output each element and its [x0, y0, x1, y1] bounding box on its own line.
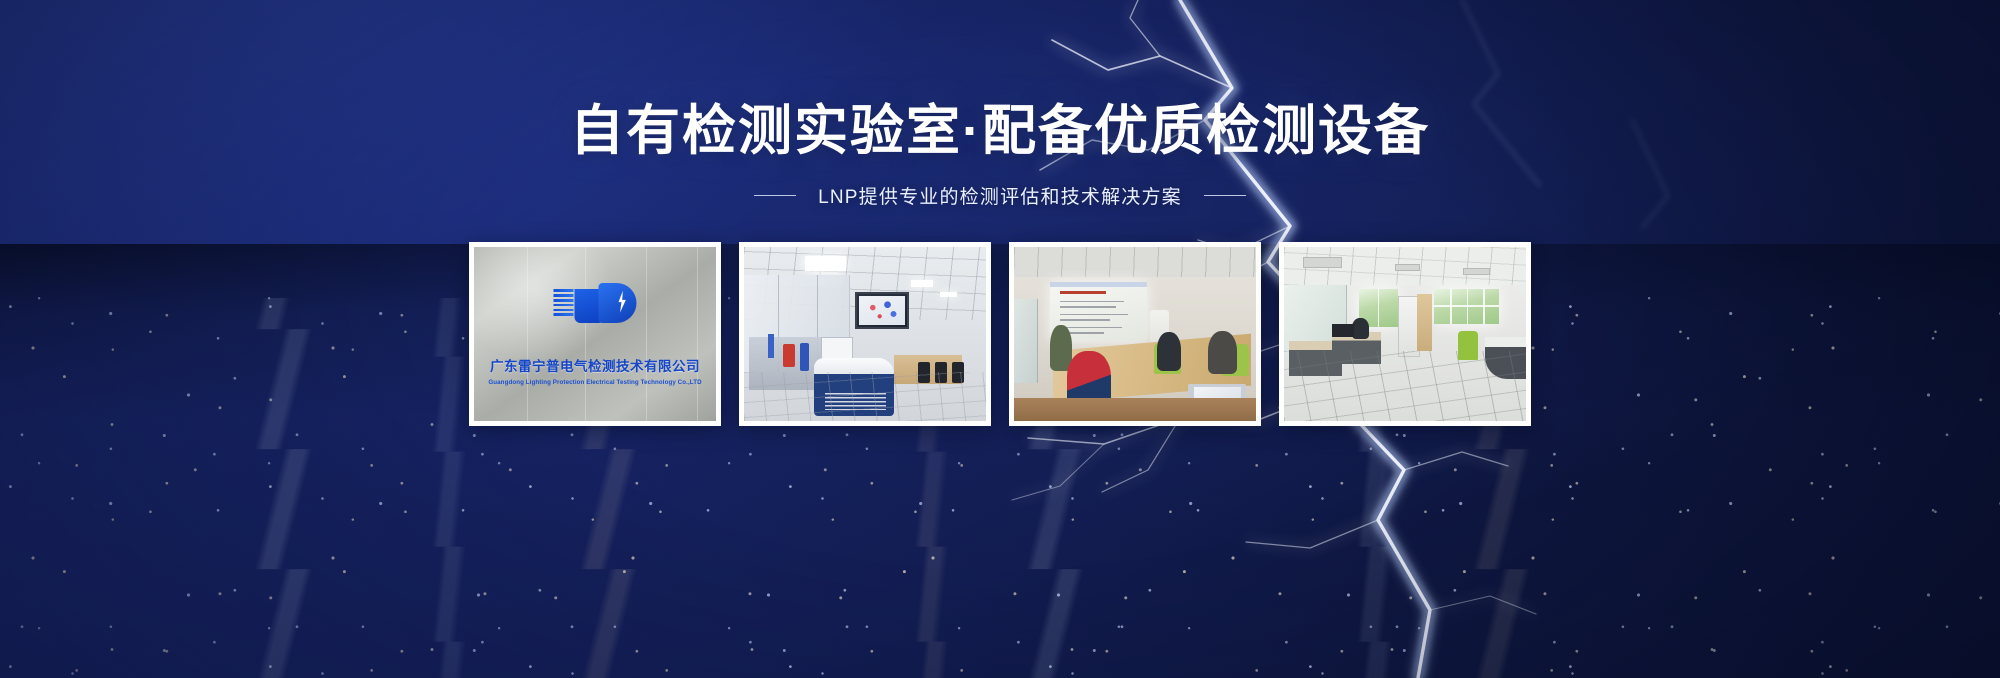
logo-mark-icon — [575, 283, 637, 323]
wooden-shelf — [1417, 294, 1432, 351]
wall-monitor — [855, 292, 908, 329]
divider-dash-left — [754, 195, 796, 196]
gallery-item-office-area[interactable] — [1279, 242, 1531, 426]
photo-office-area — [1284, 247, 1526, 421]
ceiling-vent — [1303, 257, 1342, 267]
wall-seam — [697, 247, 698, 421]
signage-company-name-cn: 广东雷宁普电气检测技术有限公司 — [490, 355, 700, 375]
hero-banner: 自有检测实验室·配备优质检测设备 LNP提供专业的检测评估和技术解决方案 — [0, 0, 2000, 678]
glass-door — [1014, 299, 1038, 383]
tiled-floor — [744, 372, 986, 421]
ceiling-vent — [1395, 264, 1419, 271]
equipment-column — [768, 334, 774, 358]
photo-testing-laboratory — [744, 247, 986, 421]
ceiling-light — [805, 256, 846, 272]
divider-dash-right — [1204, 195, 1246, 196]
wall-seam — [646, 247, 647, 421]
wall-seam — [585, 247, 586, 421]
photo-meeting-room — [1014, 247, 1256, 421]
ceiling-light — [911, 280, 933, 287]
person-seated — [1208, 331, 1237, 375]
photo-gallery: 广东雷宁普电气检测技术有限公司 Guangdong Lighting Prote… — [469, 242, 1531, 426]
window-right — [1434, 289, 1499, 324]
logo-bars-icon — [554, 289, 574, 316]
photo-company-signage: 广东雷宁普电气检测技术有限公司 Guangdong Lighting Prote… — [474, 247, 716, 421]
equipment-column — [800, 343, 810, 371]
banner-headline: 自有检测实验室·配备优质检测设备 — [570, 104, 1430, 158]
banner-content: 自有检测实验室·配备优质检测设备 LNP提供专业的检测评估和技术解决方案 — [0, 0, 2000, 678]
ceiling-grid — [1014, 247, 1256, 277]
person-at-desk — [1352, 318, 1369, 339]
lnp-logo — [554, 283, 637, 323]
person-seated — [1157, 332, 1181, 370]
wood-floor — [1014, 398, 1256, 421]
ceiling-vent — [1463, 268, 1490, 275]
gallery-item-testing-laboratory[interactable] — [739, 242, 991, 426]
tiled-floor — [1284, 351, 1526, 421]
signage-company-name-en: Guangdong Lighting Protection Electrical… — [488, 379, 701, 386]
gallery-item-meeting-room[interactable] — [1009, 242, 1261, 426]
wall-seam — [527, 247, 528, 421]
equipment-indicator — [783, 344, 795, 367]
banner-subtitle: LNP提供专业的检测评估和技术解决方案 — [818, 182, 1182, 209]
gallery-item-company-signage[interactable]: 广东雷宁普电气检测技术有限公司 Guangdong Lighting Prote… — [469, 242, 721, 426]
ceiling-light — [940, 292, 957, 297]
monitor — [1332, 324, 1354, 338]
banner-subline: LNP提供专业的检测评估和技术解决方案 — [754, 182, 1246, 209]
